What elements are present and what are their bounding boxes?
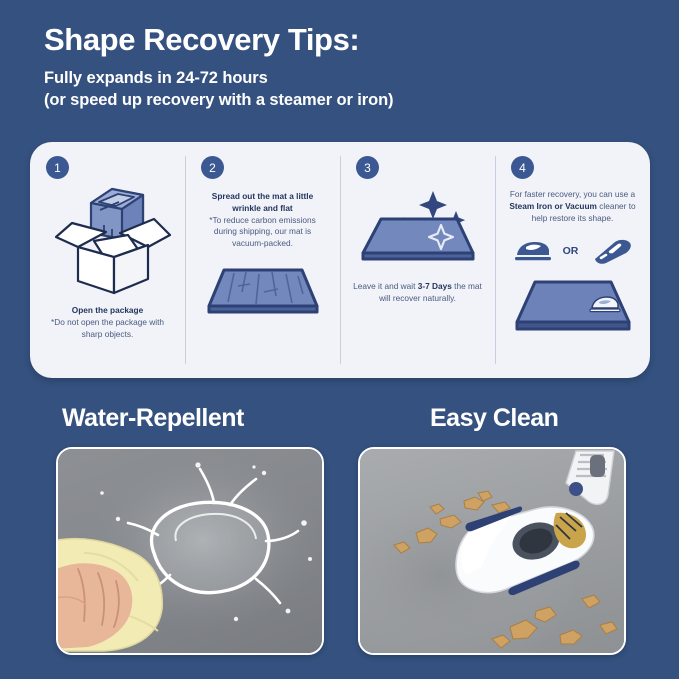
- wrinkled-mat-icon: [204, 262, 322, 318]
- step-4-caption-prefix: For faster recovery, you can use a: [510, 189, 635, 199]
- step-3-caption-prefix: Leave it and wait: [353, 281, 418, 291]
- step-number-badge-4: 4: [511, 156, 534, 179]
- step-3-caption: Leave it and wait 3-7 Days the mat will …: [350, 281, 485, 305]
- step-2-caption: Spread out the mat a little wrinkle and …: [195, 191, 330, 250]
- iron-or-vacuum-row: OR: [512, 236, 634, 266]
- vacuum-head-icon: [589, 236, 633, 266]
- step-1-caption: Open the package *Do not open the packag…: [40, 305, 175, 340]
- mat-with-iron-icon: [507, 276, 639, 334]
- or-label: OR: [563, 245, 579, 257]
- step-4-caption: For faster recovery, you can use a Steam…: [505, 189, 640, 224]
- open-box-icon: [42, 181, 174, 297]
- steps-card: 1: [30, 142, 650, 378]
- step-3: 3 Leave it and wait 3-7 Days the mat wil…: [340, 142, 495, 378]
- step-1-caption-bold: Open the package: [72, 305, 143, 315]
- step-2: 2 Spread out the mat a little wrinkle an…: [185, 142, 340, 378]
- easy-clean-photo: [358, 447, 626, 655]
- feature-title-water-repellent: Water-Repellent: [62, 404, 244, 433]
- page-title: Shape Recovery Tips:: [44, 22, 644, 58]
- page-subtitle: Fully expands in 24-72 hours (or speed u…: [44, 67, 644, 112]
- subtitle-line-2: (or speed up recovery with a steamer or …: [44, 89, 644, 111]
- step-1: 1: [30, 142, 185, 378]
- step-number-badge-1: 1: [46, 156, 69, 179]
- feature-title-easy-clean: Easy Clean: [430, 404, 558, 433]
- step-4: 4 For faster recovery, you can use a Ste…: [495, 142, 650, 378]
- flat-mat-sparkle-icon: [353, 183, 483, 265]
- step-3-caption-bold: 3-7 Days: [418, 281, 452, 291]
- step-4-caption-bold: Steam Iron or Vacuum: [509, 201, 597, 211]
- step-2-caption-bold: Spread out the mat a little wrinkle and …: [212, 191, 313, 213]
- step-1-caption-note: *Do not open the package with sharp obje…: [51, 317, 164, 339]
- steam-iron-icon: [512, 238, 552, 264]
- subtitle-line-1: Fully expands in 24-72 hours: [44, 67, 644, 89]
- water-repellent-photo: [56, 447, 324, 655]
- step-number-badge-2: 2: [201, 156, 224, 179]
- step-number-badge-3: 3: [356, 156, 379, 179]
- header: Shape Recovery Tips: Fully expands in 24…: [44, 22, 644, 111]
- step-2-caption-note: *To reduce carbon emissions during shipp…: [209, 215, 316, 249]
